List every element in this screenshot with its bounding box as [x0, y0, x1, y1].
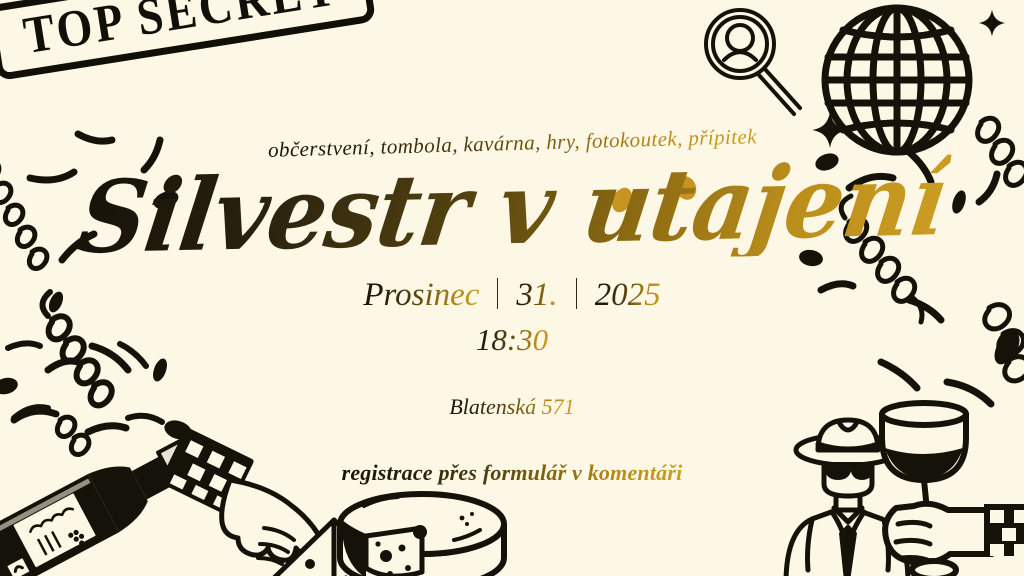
event-date-line: Prosinec 31. 2025 — [363, 274, 660, 314]
date-separator — [497, 278, 498, 309]
poster-text-column: občerstvení, tombola, kavárna, hry, foto… — [0, 0, 1024, 576]
date-separator — [576, 278, 577, 309]
registration-note: registrace přes formulář v komentáři — [342, 460, 683, 486]
page-title: Silvestr v utajení — [72, 148, 952, 271]
event-day: 31. — [516, 277, 557, 314]
poster-canvas: TOP SECRET — [0, 0, 1024, 576]
event-month: Prosinec — [363, 277, 479, 314]
event-time: 18:30 — [476, 322, 548, 358]
event-year: 2025 — [595, 277, 661, 314]
event-venue-address: Blatenská 571 — [449, 394, 574, 420]
